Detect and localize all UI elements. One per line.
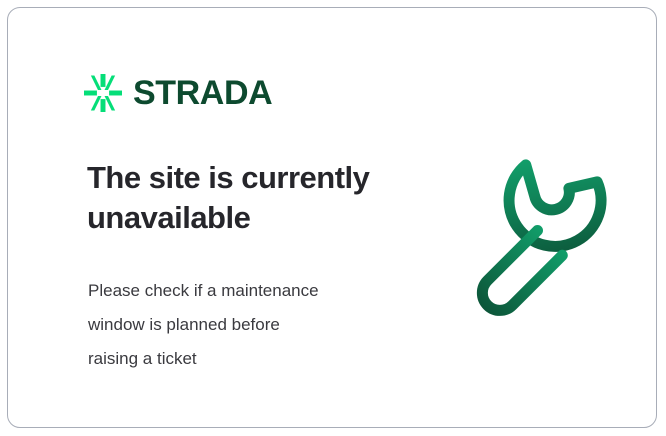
page-description: Please check if a maintenance window is … [88,274,393,376]
page-title: The site is currently unavailable [87,158,417,239]
starburst-asterisk-icon [84,74,122,112]
error-page: STRADA The site is currently unavailable… [0,0,666,436]
description-line: Please check if a maintenance [88,274,393,308]
brand-logo: STRADA [84,74,272,112]
brand-wordmark: STRADA [133,76,272,110]
wrench-icon [460,158,630,328]
description-line: window is planned before [88,308,393,342]
status-card: STRADA The site is currently unavailable… [7,7,657,428]
description-line: raising a ticket [88,342,393,376]
